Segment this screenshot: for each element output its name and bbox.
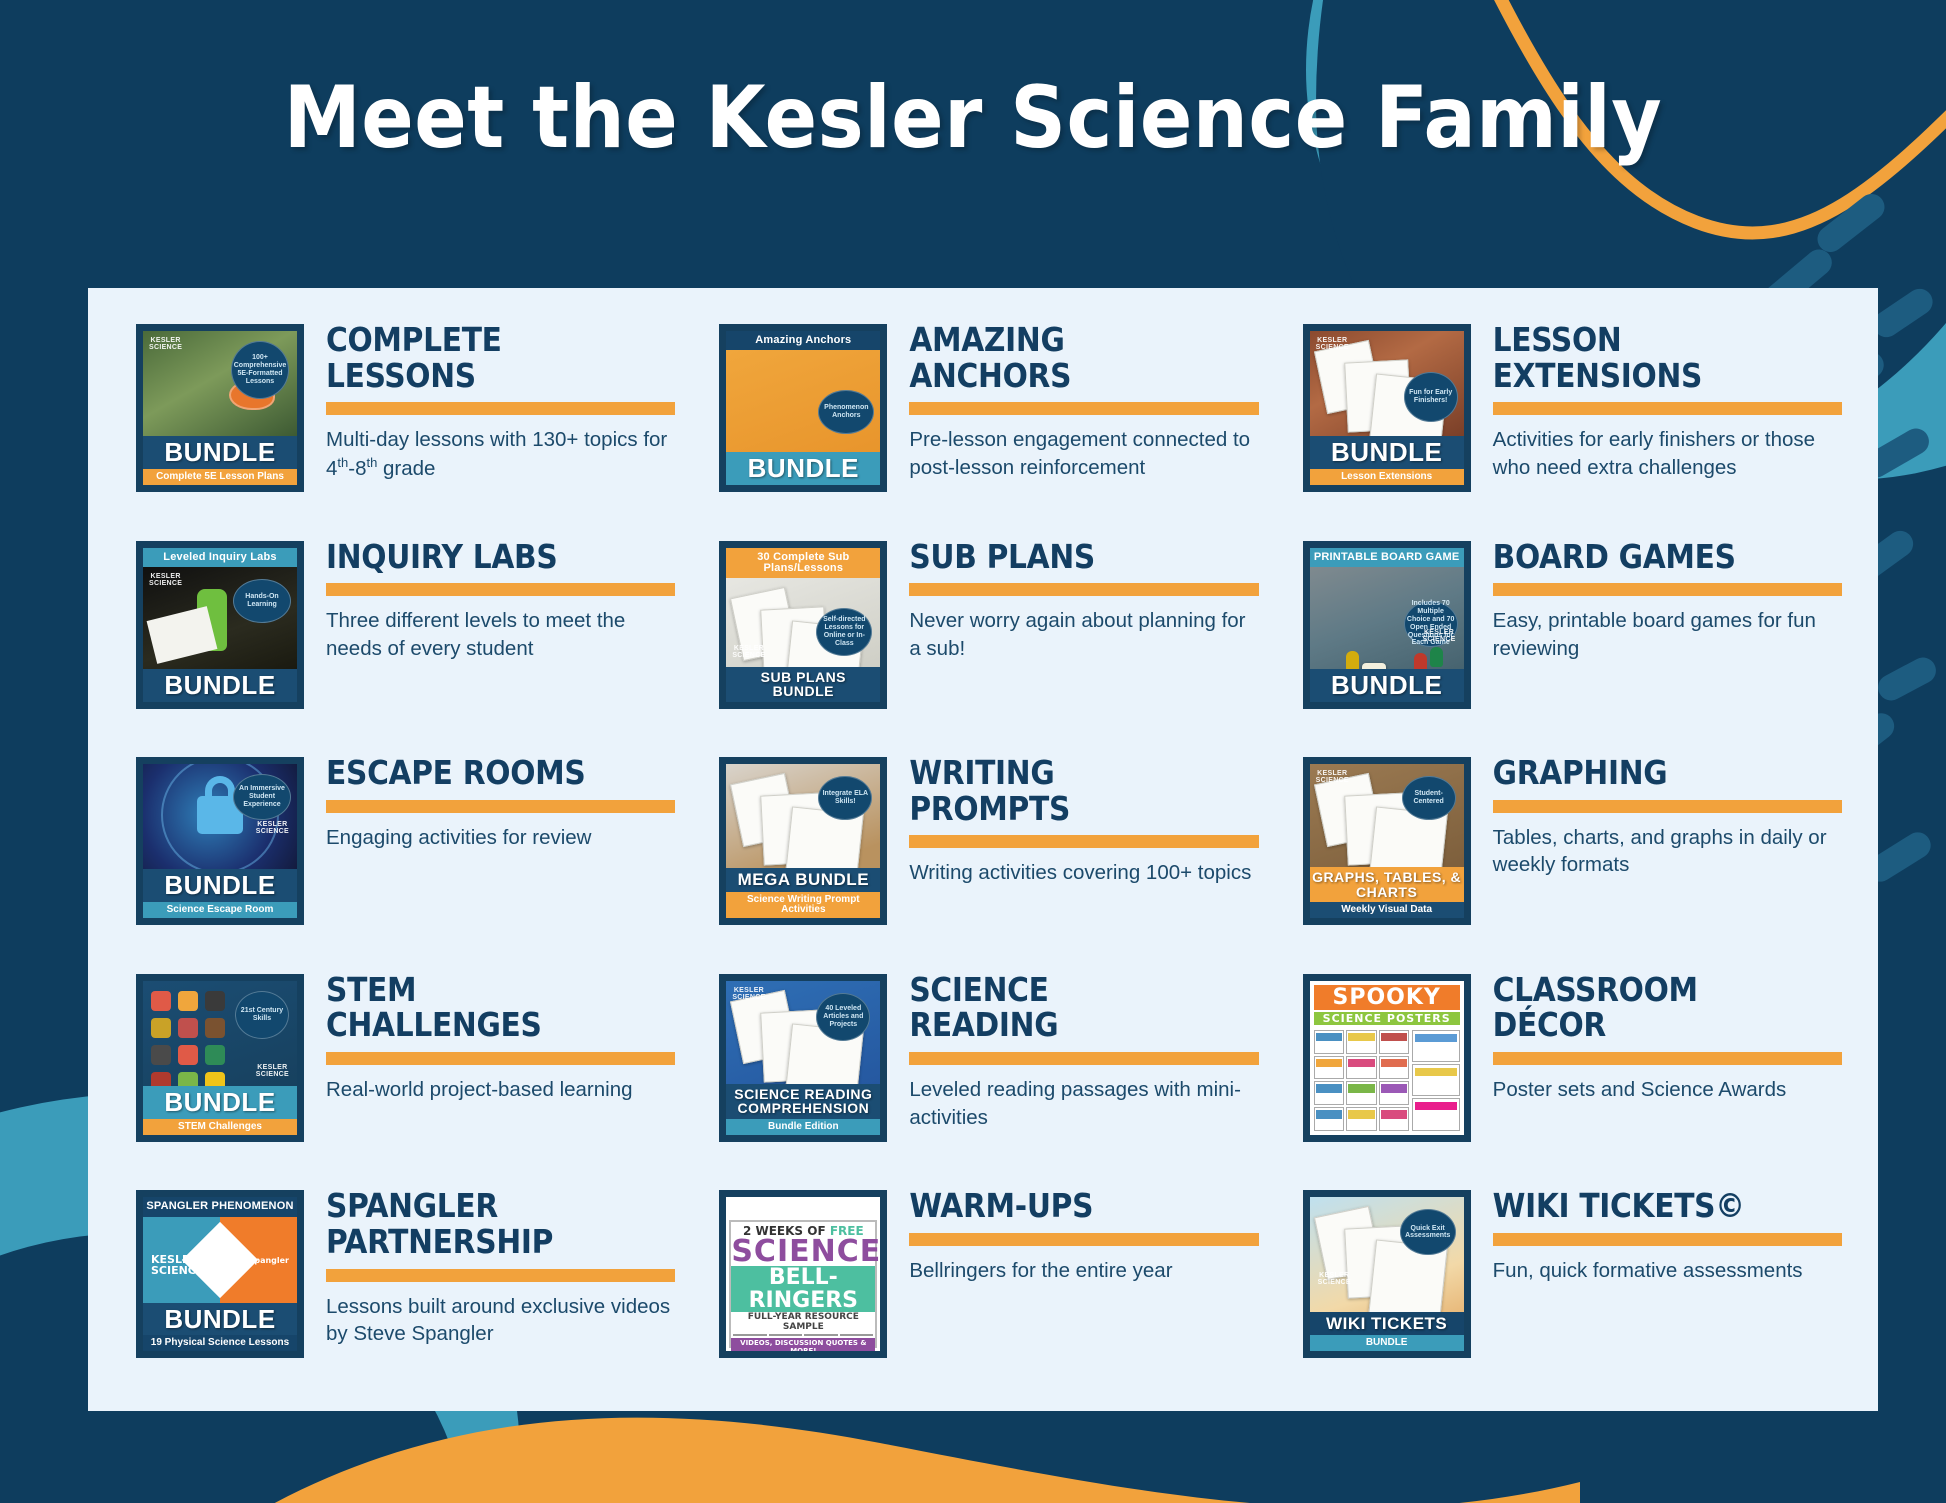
thumbnail-main-label: BUNDLE [143,869,297,902]
product-title: WRITING PROMPTS [909,755,1258,826]
kesler-science-logo: KESLERSCIENCE [732,645,765,659]
product-description: Multi-day lessons with 130+ topics for 4… [326,426,675,482]
product-text: STEM CHALLENGESReal-world project-based … [304,966,675,1104]
thumbnail-main-label: GRAPHS, TABLES, & CHARTS [1310,867,1464,902]
product-card[interactable]: An Immersive Student ExperienceKESLERSCI… [112,743,687,960]
orange-divider [326,800,675,813]
page-title: Meet the Kesler Science Family [0,68,1946,168]
products-grid: 100+ Comprehensive 5E-Formatted LessonsK… [112,310,1854,1393]
kesler-science-logo: KESLERSCIENCE [1316,337,1349,351]
thumbnail-top-label: PRINTABLE BOARD GAME [1310,548,1464,567]
product-description: Easy, printable board games for fun revi… [1493,607,1842,662]
product-text: CLASSROOM DÉCORPoster sets and Science A… [1471,966,1842,1104]
product-title: ESCAPE ROOMS [326,755,675,791]
thumbnail-main-label: SUB PLANS BUNDLE [726,667,880,702]
product-card[interactable]: Fun for Early Finishers!KESLERSCIENCEBUN… [1279,310,1854,527]
product-title: BOARD GAMES [1493,539,1842,575]
product-title: SUB PLANS [909,539,1258,575]
thumbnail-main-label: BUNDLE [1310,669,1464,702]
orange-divider [1493,402,1842,415]
product-text: BOARD GAMESEasy, printable board games f… [1471,533,1842,663]
product-text: SUB PLANSNever worry again about plannin… [887,533,1258,663]
thumbnail-top-label: 30 Complete Sub Plans/Lessons [726,548,880,578]
product-thumbnail[interactable]: 21st Century SkillsKESLERSCIENCEBUNDLEST… [136,974,304,1142]
thumbnail-main-label: BUNDLE [143,436,297,469]
thumbnail-main-label: BUNDLE [143,1303,297,1336]
thumbnail-sub-label: Science Writing Prompt Activities [726,892,880,918]
thumbnail-badge: Self-directed Lessons for Online or In-C… [816,608,872,656]
product-card[interactable]: 40 Leveled Articles and ProjectsKESLERSC… [695,960,1270,1177]
thumbnail-badge: Student-Centered [1402,776,1456,820]
product-title: GRAPHING [1493,755,1842,791]
thumbnail-sub-label: BUNDLE [1310,1335,1464,1351]
kesler-science-logo: KESLERSCIENCE [1316,770,1349,784]
product-thumbnail[interactable]: 2 WEEKS OF FREE2 WEEKS OF FREESCIENCEBEL… [719,1190,887,1358]
kesler-science-logo: KESLERSCIENCE [256,821,289,835]
orange-divider [1493,1233,1842,1246]
thumbnail-artwork: Self-directed Lessons for Online or In-C… [726,578,880,667]
product-title: COMPLETE LESSONS [326,322,675,393]
product-text: WRITING PROMPTSWriting activities coveri… [887,749,1258,887]
product-card[interactable]: Leveled Inquiry LabsHands-On LearningKES… [112,527,687,744]
thumbnail-artwork: An Immersive Student ExperienceKESLERSCI… [143,764,297,869]
kesler-science-logo: KESLERSCIENCE [256,1064,289,1078]
product-card[interactable]: 30 Complete Sub Plans/LessonsSelf-direct… [695,527,1270,744]
product-text: AMAZING ANCHORSPre-lesson engagement con… [887,316,1258,481]
product-text: COMPLETE LESSONSMulti-day lessons with 1… [304,316,675,482]
thumbnail-sub-label: Complete 5E Lesson Plans [143,469,297,485]
product-title: AMAZING ANCHORS [909,322,1258,393]
kesler-science-logo: KESLERSCIENCE [149,573,182,587]
product-card[interactable]: 100+ Comprehensive 5E-Formatted LessonsK… [112,310,687,527]
thumbnail-artwork: Integrate ELA Skills! [726,764,880,868]
thumbnail-top-label: 2 WEEKS OF FREE [726,1197,880,1216]
thumbnail-badge: 100+ Comprehensive 5E-Formatted Lessons [231,341,289,399]
product-description: Pre-lesson engagement connected to post-… [909,426,1258,481]
product-thumbnail[interactable]: 100+ Comprehensive 5E-Formatted LessonsK… [136,324,304,492]
thumbnail-top-label: SPANGLER PHENOMENON [143,1197,297,1216]
thumbnail-sub-label: Bundle Edition [726,1119,880,1135]
product-description: Activities for early finishers or those … [1493,426,1842,481]
product-thumbnail[interactable]: Fun for Early Finishers!KESLERSCIENCEBUN… [1303,324,1471,492]
product-text: GRAPHINGTables, charts, and graphs in da… [1471,749,1842,879]
thumbnail-sub-label: Lesson Extensions [1310,469,1464,485]
thumbnail-artwork: SPOOKYSCIENCE POSTERS [1310,981,1464,1135]
product-text: WARM-UPSBellringers for the entire year [887,1182,1258,1284]
kesler-science-logo: KESLERSCIENCE [732,987,765,1001]
product-thumbnail[interactable]: An Immersive Student ExperienceKESLERSCI… [136,757,304,925]
kesler-science-logo: KESLERSCIENCE [149,337,182,351]
product-text: LESSON EXTENSIONSActivities for early fi… [1471,316,1842,481]
orange-divider [909,1052,1258,1065]
thumbnail-badge: Fun for Early Finishers! [1404,372,1458,422]
product-title: STEM CHALLENGES [326,972,675,1043]
product-text: INQUIRY LABSThree different levels to me… [304,533,675,663]
orange-divider [909,583,1258,596]
thumbnail-sub-label: 19 Physical Science Lessons [143,1335,297,1351]
product-thumbnail[interactable]: 30 Complete Sub Plans/LessonsSelf-direct… [719,541,887,709]
products-panel: 100+ Comprehensive 5E-Formatted LessonsK… [88,288,1878,1411]
product-description: Three different levels to meet the needs… [326,607,675,662]
thumbnail-artwork: Phenomenon Anchors [726,350,880,452]
product-card[interactable]: Student-CenteredKESLERSCIENCEGRAPHS, TAB… [1279,743,1854,960]
thumbnail-sub-label: STEM Challenges [143,1119,297,1135]
product-card[interactable]: Amazing AnchorsPhenomenon AnchorsBUNDLEA… [695,310,1270,527]
orange-divider [326,1269,675,1282]
product-card[interactable]: SPANGLER PHENOMENONKESLERSCIENCEstevespa… [112,1176,687,1393]
product-description: Lessons built around exclusive videos by… [326,1293,675,1348]
thumbnail-artwork: 2 WEEKS OF FREESCIENCEBELL-RINGERSFULL-Y… [726,1217,880,1352]
product-title: SCIENCE READING [909,972,1258,1043]
thumbnail-artwork: 21st Century SkillsKESLERSCIENCE [143,981,297,1086]
orange-divider [909,1233,1258,1246]
thumbnail-artwork: Hands-On LearningKESLERSCIENCE [143,567,297,669]
product-text: WIKI TICKETS©Fun, quick formative assess… [1471,1182,1842,1284]
orange-divider [326,583,675,596]
orange-divider [1493,583,1842,596]
product-title: WARM-UPS [909,1188,1258,1224]
product-description: Fun, quick formative assessments [1493,1257,1842,1284]
thumbnail-sub-label: Weekly Visual Data [1310,902,1464,918]
product-title: SPANGLER PARTNERSHIP [326,1188,675,1259]
orange-divider [909,835,1258,848]
kesler-science-logo: KESLERSCIENCE [1422,629,1455,643]
thumbnail-badge: 21st Century Skills [235,991,289,1039]
product-title: WIKI TICKETS© [1493,1188,1842,1224]
product-description: Engaging activities for review [326,824,675,851]
thumbnail-badge: Phenomenon Anchors [818,390,874,434]
product-description: Never worry again about planning for a s… [909,607,1258,662]
product-title: INQUIRY LABS [326,539,675,575]
thumbnail-sub-label: Science Escape Room [143,902,297,918]
product-card[interactable]: Quick Exit AssessmentsKESLERSCIENCEWIKI … [1279,1176,1854,1393]
orange-divider [909,402,1258,415]
product-thumbnail[interactable]: Quick Exit AssessmentsKESLERSCIENCEWIKI … [1303,1190,1471,1358]
thumbnail-main-label: BUNDLE [726,452,880,485]
orange-divider [1493,1052,1842,1065]
product-card[interactable]: 21st Century SkillsKESLERSCIENCEBUNDLEST… [112,960,687,1177]
product-description: Bellringers for the entire year [909,1257,1258,1284]
product-card[interactable]: 2 WEEKS OF FREE2 WEEKS OF FREESCIENCEBEL… [695,1176,1270,1393]
product-text: SPANGLER PARTNERSHIPLessons built around… [304,1182,675,1347]
thumbnail-artwork: Includes 70 Multiple Choice and 70 Open … [1310,567,1464,669]
product-card[interactable]: Integrate ELA Skills!MEGA BUNDLEScience … [695,743,1270,960]
thumbnail-main-label: SCIENCE READING COMPREHENSION [726,1084,880,1119]
thumbnail-badge: Integrate ELA Skills! [818,776,872,820]
product-title: LESSON EXTENSIONS [1493,322,1842,393]
product-description: Poster sets and Science Awards [1493,1076,1842,1103]
kesler-science-logo: KESLERSCIENCE [1318,1272,1351,1286]
product-thumbnail[interactable]: 40 Leveled Articles and ProjectsKESLERSC… [719,974,887,1142]
thumbnail-artwork: KESLERSCIENCEstevespangler [143,1217,297,1303]
orange-divider [1493,800,1842,813]
product-description: Writing activities covering 100+ topics [909,859,1258,886]
thumbnail-main-label: BUNDLE [1310,436,1464,469]
product-title: CLASSROOM DÉCOR [1493,972,1842,1043]
thumbnail-badge: Quick Exit Assessments [1400,1209,1456,1255]
thumbnail-badge: 40 Leveled Articles and Projects [816,993,870,1041]
thumbnail-badge: An Immersive Student Experience [233,774,291,820]
product-thumbnail[interactable]: PRINTABLE BOARD GAMEIncludes 70 Multiple… [1303,541,1471,709]
thumbnail-main-label: MEGA BUNDLE [726,868,880,891]
product-description: Leveled reading passages with mini-activ… [909,1076,1258,1131]
product-thumbnail[interactable]: SPANGLER PHENOMENONKESLERSCIENCEstevespa… [136,1190,304,1358]
product-description: Real-world project-based learning [326,1076,675,1103]
product-thumbnail[interactable]: Leveled Inquiry LabsHands-On LearningKES… [136,541,304,709]
thumbnail-main-label: BUNDLE [143,1086,297,1119]
thumbnail-artwork: Quick Exit AssessmentsKESLERSCIENCE [1310,1197,1464,1311]
thumbnail-artwork: 100+ Comprehensive 5E-Formatted LessonsK… [143,331,297,436]
orange-divider [326,1052,675,1065]
thumbnail-main-label: BUNDLE [143,669,297,702]
orange-divider [326,402,675,415]
thumbnail-artwork: Fun for Early Finishers!KESLERSCIENCE [1310,331,1464,436]
product-text: SCIENCE READINGLeveled reading passages … [887,966,1258,1131]
thumbnail-top-label: Leveled Inquiry Labs [143,548,297,567]
product-card[interactable]: PRINTABLE BOARD GAMEIncludes 70 Multiple… [1279,527,1854,744]
product-thumbnail[interactable]: Amazing AnchorsPhenomenon AnchorsBUNDLE [719,324,887,492]
product-description: Tables, charts, and graphs in daily or w… [1493,824,1842,879]
thumbnail-main-label: WIKI TICKETS [1310,1312,1464,1335]
product-thumbnail[interactable]: Integrate ELA Skills!MEGA BUNDLEScience … [719,757,887,925]
thumbnail-badge: Hands-On Learning [233,579,291,623]
product-card[interactable]: SPOOKYSCIENCE POSTERSCLASSROOM DÉCORPost… [1279,960,1854,1177]
thumbnail-artwork: 40 Leveled Articles and ProjectsKESLERSC… [726,981,880,1084]
product-thumbnail[interactable]: Student-CenteredKESLERSCIENCEGRAPHS, TAB… [1303,757,1471,925]
product-text: ESCAPE ROOMSEngaging activities for revi… [304,749,675,851]
product-thumbnail[interactable]: SPOOKYSCIENCE POSTERS [1303,974,1471,1142]
thumbnail-artwork: Student-CenteredKESLERSCIENCE [1310,764,1464,867]
thumbnail-top-label: Amazing Anchors [726,331,880,350]
